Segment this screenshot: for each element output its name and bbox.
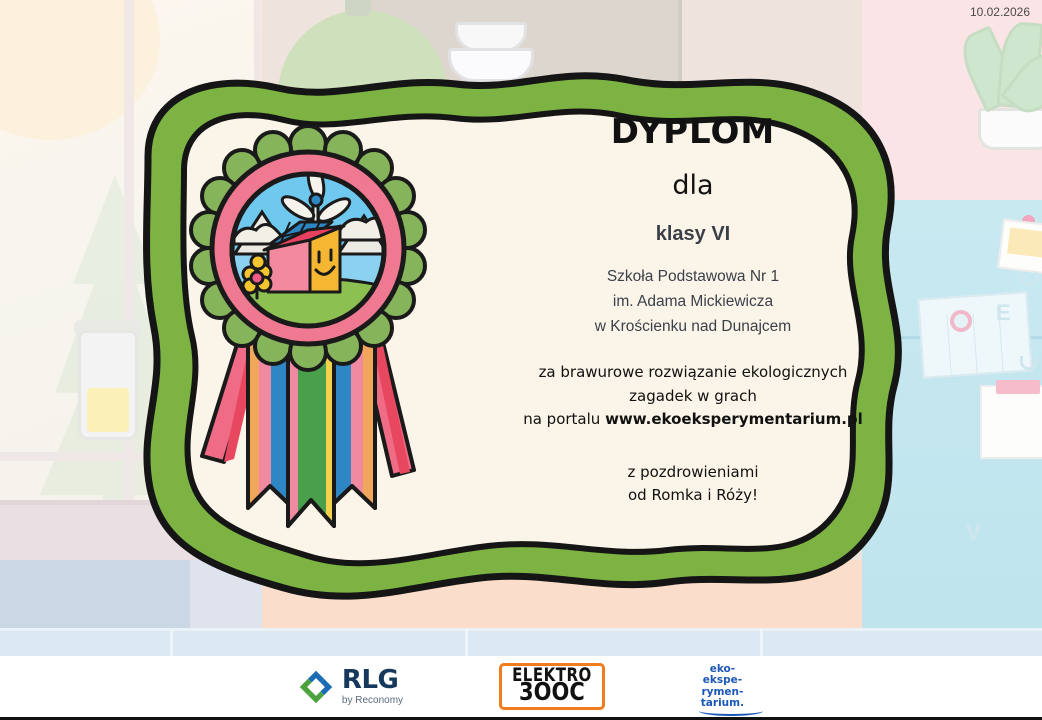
certificate-card: DYPLOM dla klasy VI Szkoła Podstawowa Nr… bbox=[88, 36, 950, 616]
logo-rlg: RLG by Reconomy bbox=[298, 667, 403, 706]
certificate-text: DYPLOM dla klasy VI Szkoła Podstawowa Nr… bbox=[458, 114, 928, 508]
rlg-diamond-icon bbox=[298, 669, 334, 705]
portal-url: www.ekoeksperymentarium.pl bbox=[605, 410, 863, 428]
letter-v-decor: V bbox=[966, 520, 981, 546]
wall-hook bbox=[1020, 272, 1038, 286]
reason-block: za brawurowe rozwiązanie ekologicznych z… bbox=[458, 361, 928, 431]
logo-eko-eksperymentarium: eko- ekspe- rymen- tarium. bbox=[701, 664, 744, 709]
eko-underline-swoosh bbox=[699, 706, 763, 716]
photo-card bbox=[997, 219, 1042, 276]
sticky-note bbox=[980, 385, 1042, 459]
letter-e-decor: E bbox=[996, 300, 1011, 326]
greeting-line-1: z pozdrowieniami bbox=[458, 461, 928, 484]
rlg-tagline: by Reconomy bbox=[342, 695, 403, 706]
rlg-text: RLG by Reconomy bbox=[342, 667, 403, 706]
portal-prefix: na portalu bbox=[523, 410, 605, 428]
certificate-for-label: dla bbox=[458, 171, 928, 201]
floor bbox=[0, 628, 1042, 656]
lamp-stem bbox=[345, 0, 371, 16]
eko-line-2: ekspe- bbox=[701, 675, 744, 686]
school-line-2: im. Adama Mickiewicza bbox=[458, 289, 928, 314]
floor-seam bbox=[465, 628, 468, 656]
reason-line-3: na portalu www.ekoeksperymentarium.pl bbox=[458, 408, 928, 431]
elektro-line-2: 3OOC bbox=[519, 681, 585, 704]
school-block: Szkoła Podstawowa Nr 1 im. Adama Mickiew… bbox=[458, 264, 928, 339]
certificate-recipient: klasy VI bbox=[458, 223, 928, 246]
reason-line-1: za brawurowe rozwiązanie ekologicznych bbox=[458, 361, 928, 384]
greeting-line-2: od Romka i Róży! bbox=[458, 484, 928, 507]
school-line-1: Szkoła Podstawowa Nr 1 bbox=[458, 264, 928, 289]
logo-elektro-3ooc: ELEKTRO 3OOC bbox=[499, 663, 605, 709]
greeting-block: z pozdrowieniami od Romka i Róży! bbox=[458, 461, 928, 508]
footer-logo-bar: RLG by Reconomy ELEKTRO 3OOC eko- ekspe-… bbox=[0, 656, 1042, 720]
certificate-title: DYPLOM bbox=[458, 114, 928, 151]
date-stamp: 10.02.2026 bbox=[970, 5, 1030, 19]
reason-line-2: zagadek w grach bbox=[458, 385, 928, 408]
rosette-medal bbox=[188, 126, 428, 546]
hole-ring bbox=[950, 310, 972, 332]
school-line-3: w Krościenku nad Dunajcem bbox=[458, 314, 928, 339]
floor-seam bbox=[170, 628, 173, 656]
wall-hook bbox=[1020, 356, 1038, 370]
plant-pot bbox=[978, 108, 1042, 150]
floor-seam bbox=[760, 628, 763, 656]
rlg-wordmark: RLG bbox=[342, 667, 398, 693]
